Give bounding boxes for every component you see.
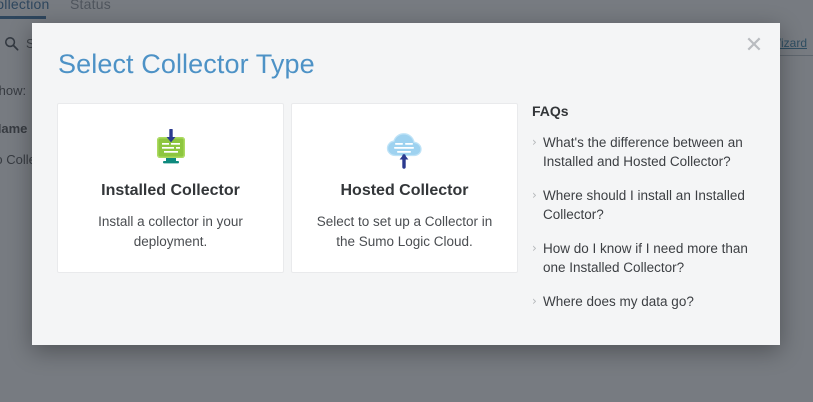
faq-item[interactable]: › Where does my data go? [532,292,764,311]
faq-item-label: How do I know if I need more than one In… [543,239,764,277]
faq-item[interactable]: › What's the difference between an Insta… [532,133,764,171]
dialog-title: Select Collector Type [58,49,315,80]
hosted-collector-card[interactable]: Hosted Collector Select to set up a Coll… [291,103,518,273]
installed-collector-description: Install a collector in your deployment. [80,212,261,252]
installed-collector-card[interactable]: Installed Collector Install a collector … [57,103,284,273]
faq-item[interactable]: › Where should I install an Installed Co… [532,186,764,224]
select-collector-type-dialog: ✕ Select Collector Type [32,23,780,345]
collector-type-cards: Installed Collector Install a collector … [57,103,518,273]
faq-item-label: Where should I install an Installed Coll… [543,186,764,224]
hosted-collector-title: Hosted Collector [292,182,517,200]
installed-collector-monitor-icon [58,127,283,173]
chevron-right-icon: › [532,133,543,152]
chevron-right-icon: › [532,186,543,205]
faq-item-label: What's the difference between an Install… [543,133,764,171]
chevron-right-icon: › [532,292,543,311]
hosted-collector-description: Select to set up a Collector in the Sumo… [314,212,495,252]
faq-heading: FAQs [532,103,764,119]
close-icon[interactable]: ✕ [742,35,766,59]
faq-item-label: Where does my data go? [543,292,694,311]
chevron-right-icon: › [532,239,543,258]
installed-collector-title: Installed Collector [58,182,283,200]
faq-item[interactable]: › How do I know if I need more than one … [532,239,764,277]
faq-panel: FAQs › What's the difference between an … [532,103,764,326]
hosted-collector-cloud-icon [292,127,517,173]
